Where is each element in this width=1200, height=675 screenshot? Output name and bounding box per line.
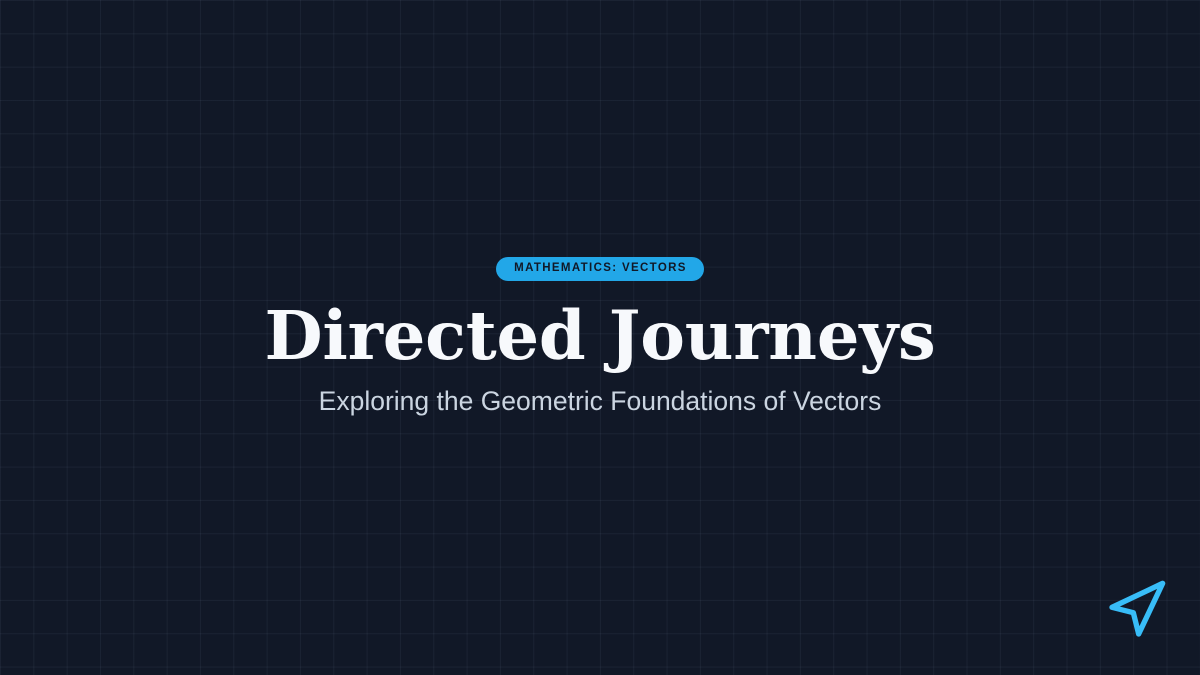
category-badge: Mathematics: Vectors	[496, 257, 704, 281]
slide-title: Directed Journeys	[264, 300, 935, 371]
slide-subtitle: Exploring the Geometric Foundations of V…	[319, 384, 882, 418]
slide-content: Mathematics: Vectors Directed Journeys E…	[0, 0, 1200, 675]
title-slide: Mathematics: Vectors Directed Journeys E…	[0, 0, 1200, 675]
navigation-arrow-glyph	[1104, 578, 1168, 642]
navigation-arrow-icon	[1104, 578, 1168, 642]
